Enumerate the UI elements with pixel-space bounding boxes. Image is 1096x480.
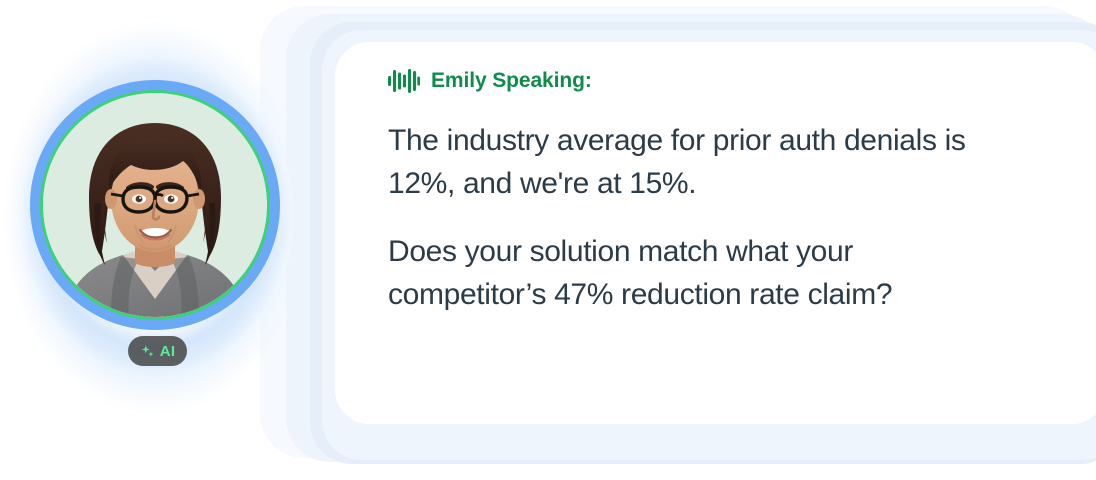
- card-stack: Emily Speaking: The industry average for…: [238, 0, 1096, 480]
- audio-waveform-icon: [388, 68, 420, 94]
- avatar-photo-disc: [43, 93, 267, 317]
- transcript-card-content: Emily Speaking: The industry average for…: [388, 68, 998, 316]
- ai-badge: AI: [128, 336, 187, 366]
- ai-sparkle-icon: [140, 344, 155, 359]
- speaker-row: Emily Speaking:: [388, 68, 998, 94]
- transcript-paragraph-2: Does your solution match what your compe…: [388, 231, 988, 316]
- ai-badge-label: AI: [160, 343, 175, 360]
- speaking-card-scene: Emily Speaking: The industry average for…: [0, 0, 1096, 480]
- avatar: AI: [0, 18, 310, 418]
- speaker-label: Emily Speaking:: [431, 69, 592, 93]
- transcript-paragraph-1: The industry average for prior auth deni…: [388, 120, 988, 205]
